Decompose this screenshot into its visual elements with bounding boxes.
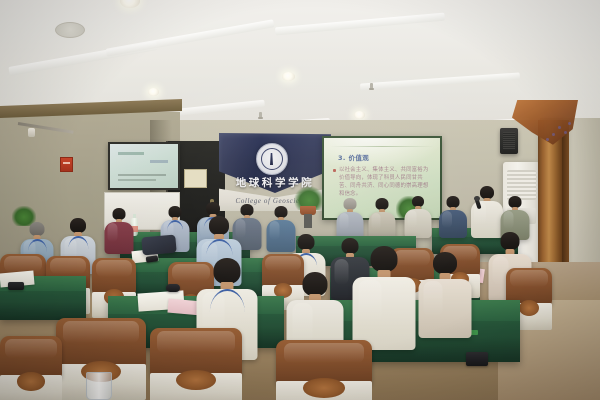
ceiling-air-vent	[55, 22, 85, 38]
attendee-head	[298, 234, 315, 250]
linear-light-strip	[106, 19, 275, 56]
attendee-head	[501, 232, 520, 250]
left-wall-monitor	[108, 142, 180, 190]
plant-stand	[304, 214, 312, 228]
lanyard	[206, 239, 232, 255]
microphone-head-icon	[474, 196, 480, 201]
covered-chair[interactable]	[276, 340, 372, 400]
track-lamp-head	[28, 128, 35, 137]
linear-light-strip	[360, 72, 520, 90]
lanyard	[27, 239, 46, 252]
slide-divider	[330, 146, 434, 147]
monitor-content-line	[118, 152, 144, 155]
slide-body-text: 以社会主义、集体主义、共同富裕为价值导向，体现了科员人民同甘共苦、同舟共济、同心…	[339, 166, 431, 198]
attendee	[104, 208, 134, 254]
attendee	[404, 196, 432, 238]
covered-chair[interactable]	[150, 328, 242, 400]
linear-light-strip	[275, 13, 445, 36]
attendee-head	[303, 272, 328, 296]
attendee	[438, 196, 468, 238]
attendee-head	[209, 216, 229, 235]
monitor-content-line	[118, 174, 166, 176]
recessed-downlight	[282, 72, 295, 81]
emblem-mark	[269, 153, 274, 165]
attendee-head	[433, 252, 457, 274]
attendee-head	[30, 222, 45, 236]
covered-chair[interactable]	[0, 336, 62, 400]
university-seal-emblem	[256, 143, 288, 175]
recessed-downlight	[148, 88, 159, 96]
lanyard	[167, 220, 184, 232]
conference-room-photo: 地球科学学院 College of Geosciences 3. 价值观 以社会…	[0, 0, 600, 400]
recessed-downlight	[354, 111, 365, 119]
attendee-torso	[439, 210, 467, 238]
lanyard	[209, 289, 244, 312]
mobile-phone	[466, 352, 488, 366]
attendee	[336, 198, 364, 240]
monitor-content-line	[118, 179, 156, 181]
mobile-phone	[166, 284, 180, 292]
recessed-downlight	[120, 0, 140, 8]
attendee	[368, 198, 396, 240]
attendee	[352, 246, 416, 350]
chair-bow	[17, 372, 44, 390]
drinking-glass	[86, 372, 112, 400]
chair-bow	[303, 378, 345, 397]
attendee-head	[70, 218, 86, 233]
presenter-with-microphone	[470, 186, 504, 238]
door-notice-sign	[184, 169, 207, 188]
attendee-torso	[105, 222, 134, 254]
fire-sprinkler	[259, 112, 262, 118]
red-fire-alarm-sign	[60, 157, 73, 172]
slide-title-text: 3. 价值观	[338, 152, 369, 162]
wall-mounted-speaker	[500, 128, 518, 154]
monitor-screen	[110, 144, 178, 188]
attendee-head	[371, 246, 398, 272]
attendee	[418, 252, 472, 338]
slide-bullet-icon	[333, 169, 336, 172]
fire-sprinkler	[370, 83, 373, 89]
monitor-content-line	[150, 160, 168, 163]
mobile-phone	[8, 282, 24, 290]
attendee-head	[214, 258, 241, 284]
lanyard	[68, 236, 88, 249]
attendee-torso	[405, 209, 432, 238]
shoulder-bag	[141, 235, 176, 256]
attendee-torso	[419, 279, 472, 338]
